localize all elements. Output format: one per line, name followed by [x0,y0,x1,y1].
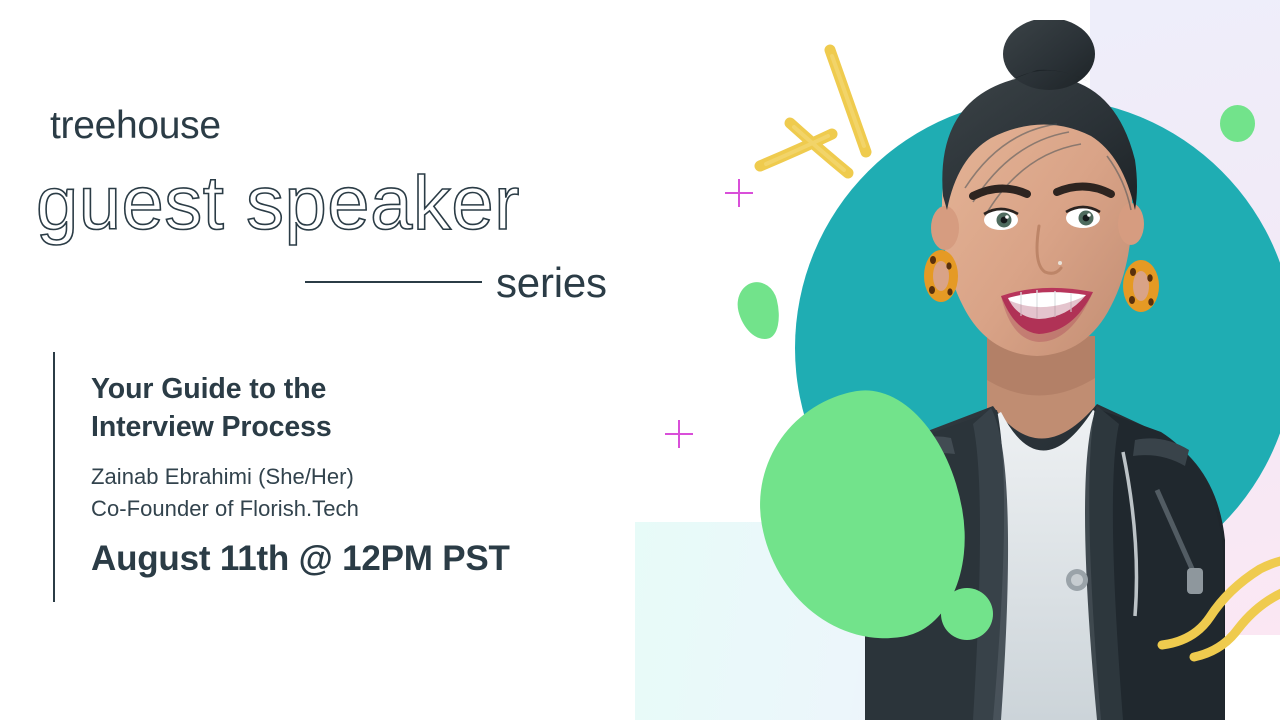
session-datetime: August 11th @ 12PM PST [91,540,631,579]
brand-name: treehouse [50,106,221,145]
yellow-wavy-lines [1150,555,1280,675]
green-blob-shape-small [733,278,786,344]
speaker-role: Co-Founder of Florish.Tech [91,493,631,524]
headline-outline-text: guest speaker [36,166,520,242]
series-row: series [305,258,635,310]
yellow-burst-strokes [740,30,910,200]
session-details: Your Guide to the Interview Process Zain… [91,370,631,578]
vertical-accent-rule [53,352,55,602]
speaker-name: Zainab Ebrahimi (She/Her) [91,461,631,492]
series-divider-rule [305,281,482,283]
series-word: series [496,256,607,311]
session-title-line-2: Interview Process [91,408,631,446]
session-title-line-1: Your Guide to the [91,370,631,408]
text-column: treehouse guest speaker series Your Guid… [0,0,660,720]
plus-mark-icon-bottom [665,420,693,448]
green-circle-shape-bottom [941,588,993,640]
slide-canvas: treehouse guest speaker series Your Guid… [0,0,1280,720]
